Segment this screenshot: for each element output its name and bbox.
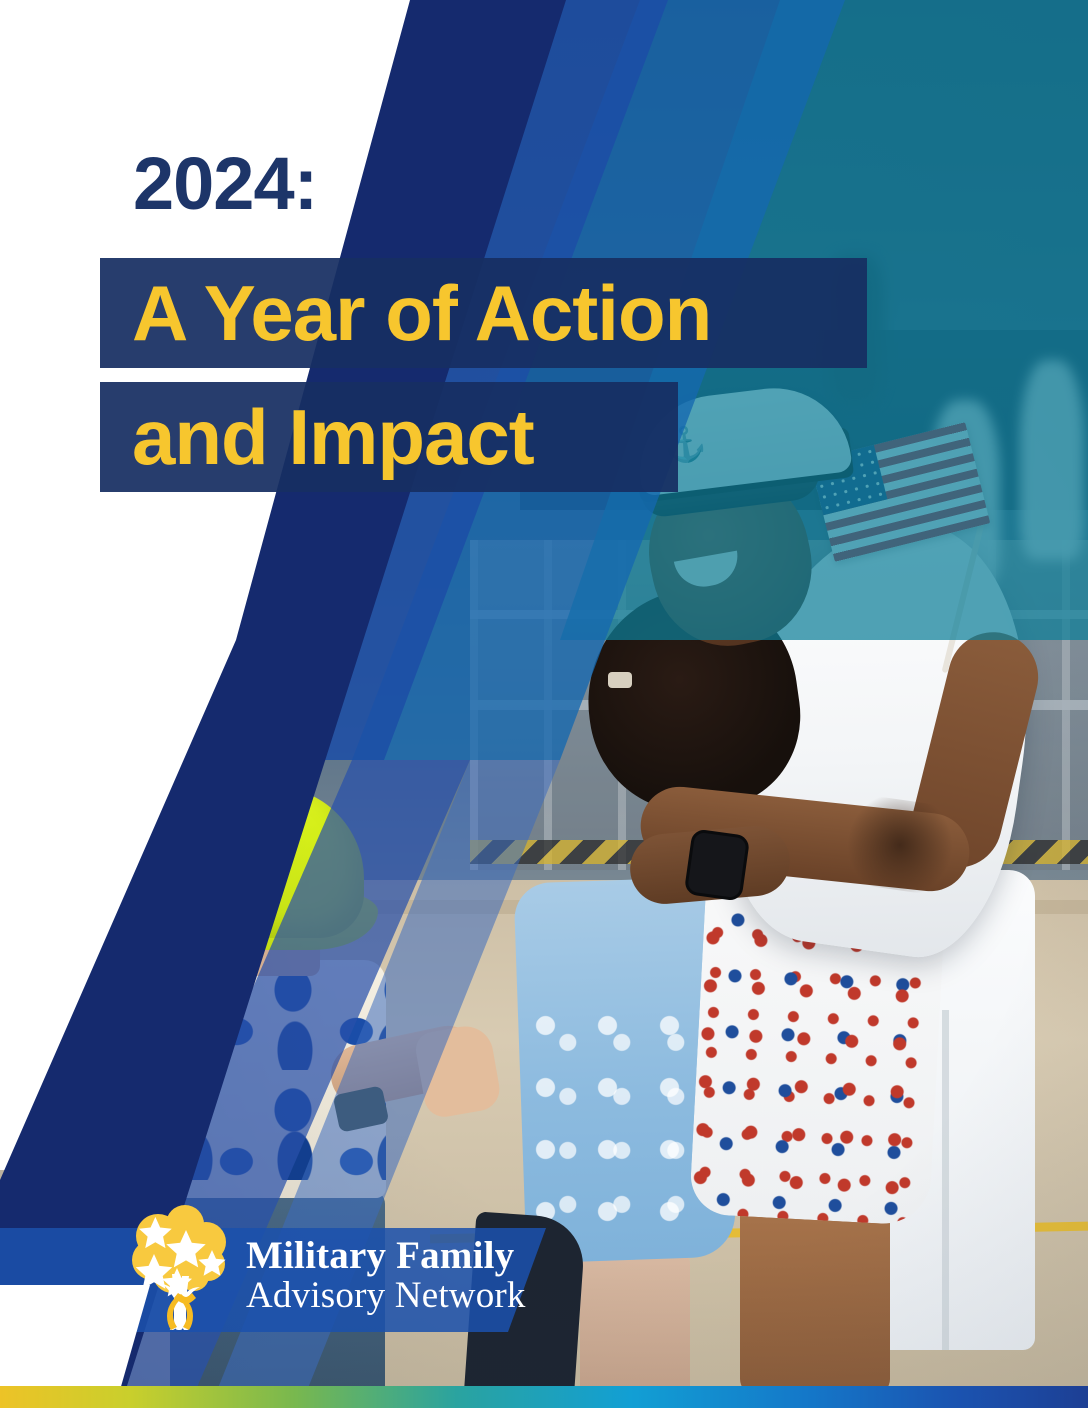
- cover-year: 2024:: [133, 141, 317, 226]
- cover-title-line-1: A Year of Action: [132, 268, 711, 359]
- smartwatch: [684, 828, 751, 901]
- organization-name: Military Family Advisory Network: [246, 1236, 526, 1330]
- sailor-trouser-seam: [942, 1010, 949, 1350]
- logo-line-2: Advisory Network: [246, 1277, 526, 1314]
- background-sailor-b: [1020, 360, 1084, 560]
- logo-line-1: Military Family: [246, 1236, 526, 1275]
- mfan-tree-logo-icon: [128, 1202, 232, 1330]
- girl-legs: [580, 1250, 690, 1400]
- cover-title-line-1-bar: A Year of Action: [100, 258, 867, 368]
- report-cover-page: ⚓ 2024: A Year of Action and Impact: [0, 0, 1088, 1408]
- girl-dress-lace: [530, 1010, 720, 1240]
- woman-legs: [740, 1195, 890, 1395]
- cover-title-line-2-bar: and Impact: [100, 382, 678, 492]
- woman-hair-clip: [608, 672, 632, 688]
- cover-title-line-2: and Impact: [132, 392, 534, 483]
- brand-gradient-bar: [0, 1386, 1088, 1408]
- organization-logo: Military Family Advisory Network: [128, 1190, 528, 1330]
